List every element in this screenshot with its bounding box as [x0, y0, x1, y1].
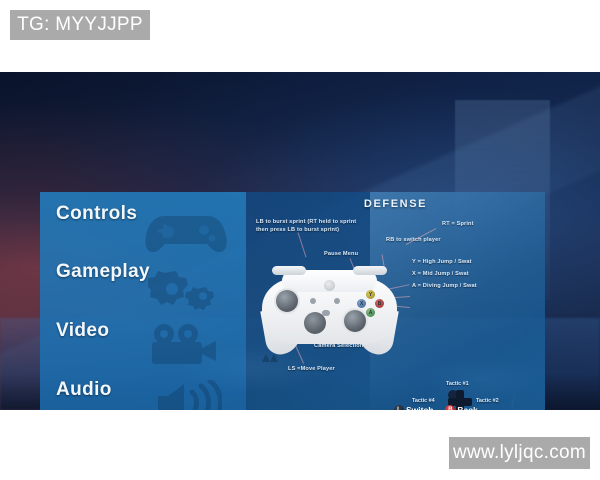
face-button-b: B: [375, 299, 384, 308]
speaker-icon: [152, 380, 222, 410]
menu-button: [334, 298, 340, 304]
tactic-up-label: Tactic #1: [446, 381, 469, 387]
sidebar-item-label: Audio: [56, 379, 112, 401]
cue-a-diving-jump: A = Diving Jump / Swat: [412, 282, 477, 290]
cue-x-mid-jump: X = Mid Jump / Swat: [412, 270, 469, 278]
cue-left-stick-move: LS =Move Player: [288, 365, 335, 373]
leader-line: [298, 232, 307, 257]
movie-camera-icon: [144, 322, 224, 370]
team-logo-icon: [260, 352, 280, 364]
sidebar-item-video[interactable]: Video: [56, 314, 109, 348]
b-button-icon: B: [445, 405, 455, 410]
sidebar-item-label: Controls: [56, 203, 137, 225]
controls-diagram: DEFENSE LB to burst sprint (RT held to s…: [246, 192, 545, 410]
settings-panel: Controls Gameplay Video Audio DEFENSE LB…: [40, 192, 545, 410]
game-video-frame: Controls Gameplay Video Audio DEFENSE LB…: [0, 72, 600, 410]
cue-rt-sprint: RT = Sprint: [442, 220, 474, 228]
right-bumper-rb: [353, 266, 387, 275]
sidebar-item-label: Video: [56, 320, 109, 342]
prompt-switch[interactable]: L Switch: [394, 405, 433, 410]
cue-pause-menu: Pause Menu: [324, 250, 358, 258]
face-button-x: X: [357, 299, 366, 308]
prompt-back-label: Back: [457, 405, 477, 410]
dpad: [304, 312, 326, 334]
sidebar-item-audio[interactable]: Audio: [56, 373, 112, 407]
face-button-y: Y: [366, 290, 375, 299]
left-stick: [276, 290, 298, 312]
right-stick: [344, 310, 366, 332]
xbox-guide-button: [324, 280, 335, 291]
gamepad-icon: [144, 208, 228, 256]
lb-button-icon: L: [394, 405, 404, 410]
view-button: [310, 298, 316, 304]
prompt-back[interactable]: B Back: [445, 405, 477, 410]
left-bumper-lb: [272, 266, 306, 275]
sidebar-item-controls[interactable]: Controls: [56, 197, 137, 231]
sidebar-item-gameplay[interactable]: Gameplay: [56, 255, 150, 289]
cue-lb-burst-sprint: LB to burst sprint (RT held to sprint th…: [256, 218, 366, 235]
telegram-watermark: TG: MYYJJPP: [10, 10, 150, 40]
tactic-right-label: Tactic #2: [476, 398, 499, 404]
button-prompts: L Switch B Back: [394, 405, 478, 410]
prompt-switch-label: Switch: [406, 405, 433, 410]
cue-y-high-jump: Y = High Jump / Swat: [412, 258, 472, 266]
xbox-controller-illustration: Y X B A: [262, 264, 397, 356]
diagram-title: DEFENSE: [246, 198, 545, 210]
gears-icon: [148, 265, 224, 313]
site-watermark: www.lyljqc.com: [449, 437, 590, 469]
tactic-left-label: Tactic #4: [412, 398, 435, 404]
sidebar-item-label: Gameplay: [56, 261, 150, 283]
face-button-a: A: [366, 308, 375, 317]
